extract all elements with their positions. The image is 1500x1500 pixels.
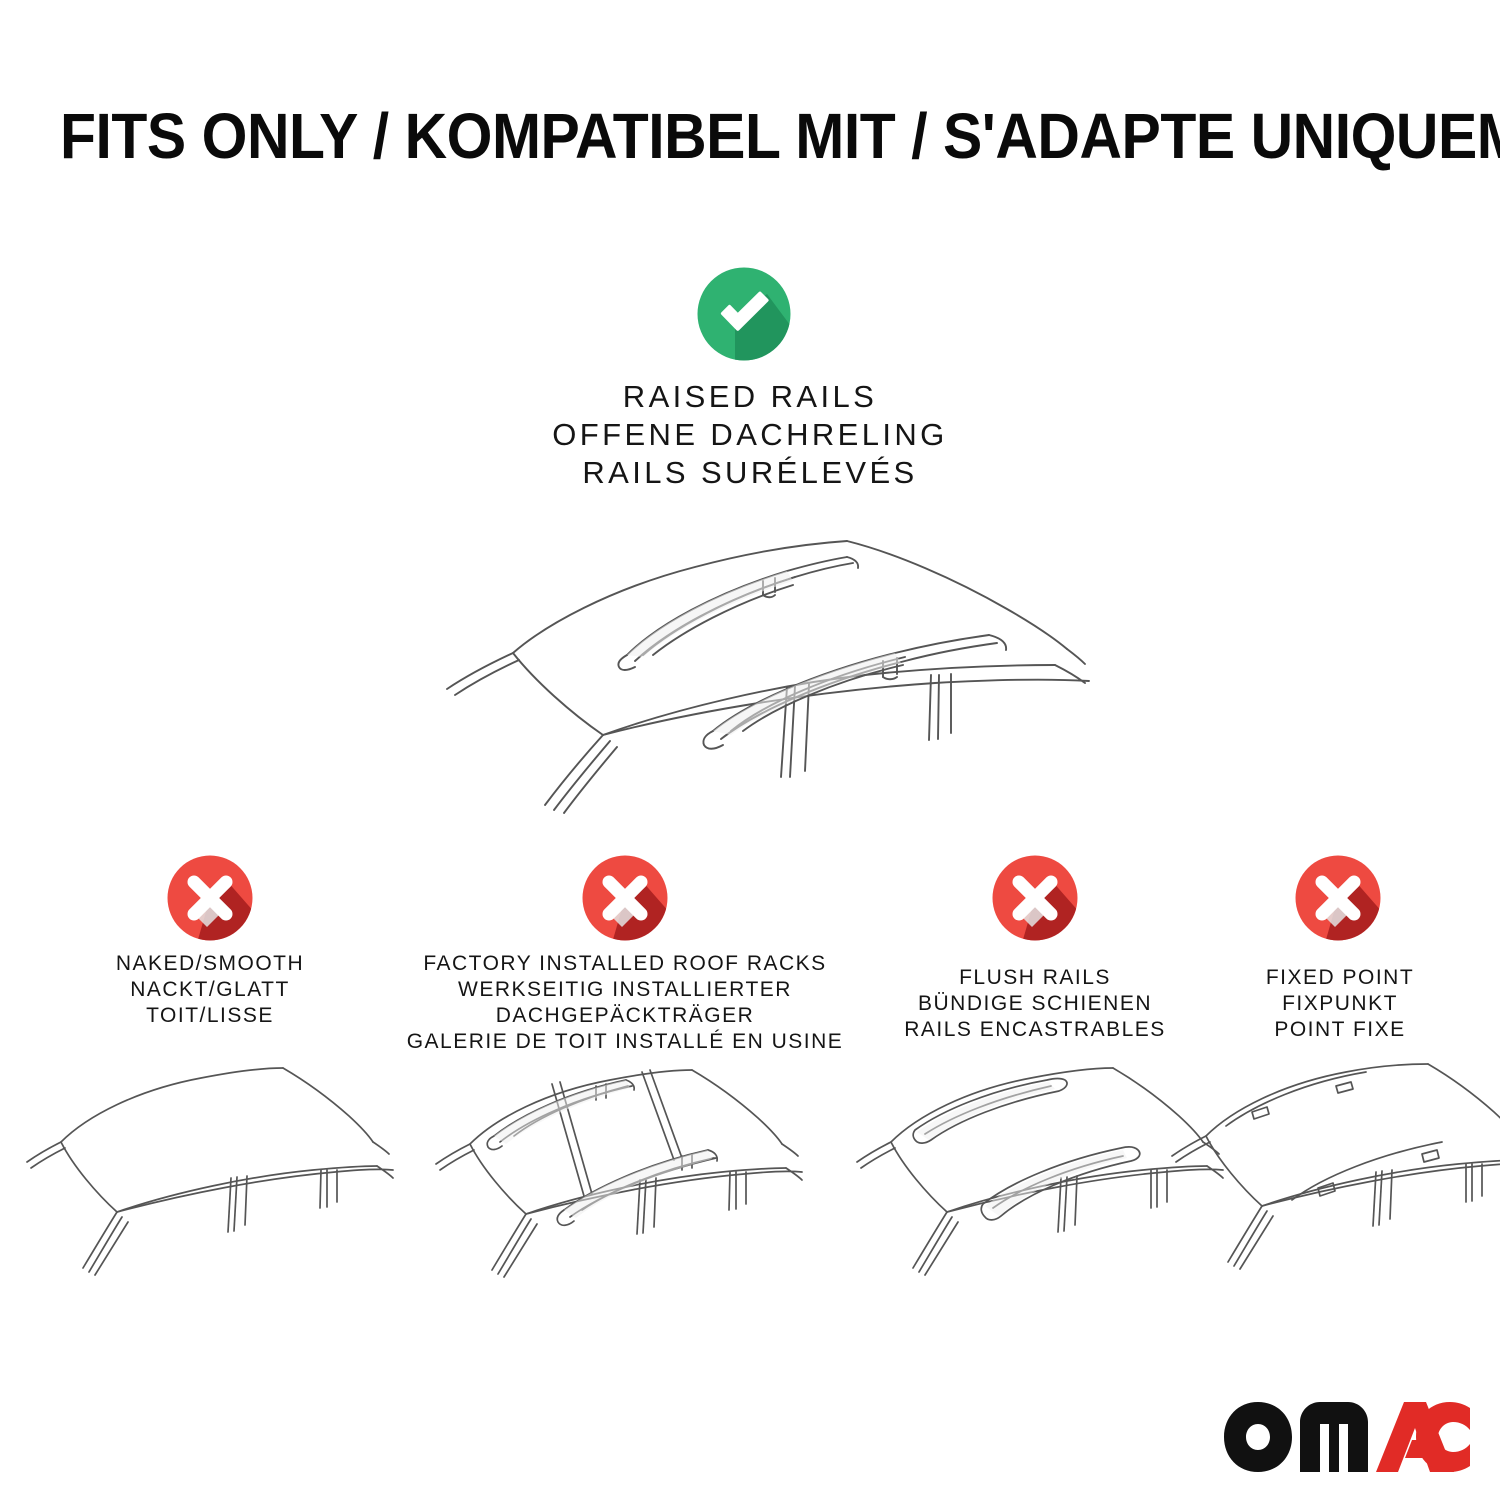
label-line-1: FLUSH RAILS — [845, 965, 1225, 991]
compatible-label-line-2: OFFENE DACHRELING — [250, 416, 1250, 454]
label-line-2: NACKT/GLATT — [20, 977, 400, 1003]
car-roof-fixed-point-illustration — [1170, 1060, 1500, 1320]
label-line-1: FIXED POINT — [1180, 965, 1500, 991]
compatible-label-line-3: RAILS SURÉLEVÉS — [250, 454, 1250, 492]
label-line-2: BÜNDIGE SCHIENEN — [845, 991, 1225, 1017]
green-check-icon — [697, 267, 791, 361]
label-line-2: WERKSEITIG INSTALLIERTER — [395, 977, 855, 1003]
incompatible-label-factory-roof-racks: FACTORY INSTALLED ROOF RACKS WERKSEITIG … — [395, 951, 855, 1055]
car-roof-naked-smooth-illustration — [25, 1060, 395, 1320]
omac-logo: OMAC — [1222, 1398, 1472, 1476]
compatible-label: RAISED RAILS OFFENE DACHRELING RAILS SUR… — [250, 378, 1250, 492]
red-x-icon — [167, 855, 253, 941]
page-title: FITS ONLY / KOMPATIBEL MIT / S'ADAPTE UN… — [60, 104, 1440, 168]
label-line-1: FACTORY INSTALLED ROOF RACKS — [395, 951, 855, 977]
label-line-3: TOIT/LISSE — [20, 1003, 400, 1029]
label-line-2: FIXPUNKT — [1180, 991, 1500, 1017]
fitment-infographic: FITS ONLY / KOMPATIBEL MIT / S'ADAPTE UN… — [0, 0, 1500, 1500]
label-line-1: NAKED/SMOOTH — [20, 951, 400, 977]
red-x-icon — [1295, 855, 1381, 941]
logo-letter-o — [1224, 1402, 1292, 1472]
incompatible-label-fixed-point: FIXED POINT FIXPUNKT POINT FIXE — [1180, 965, 1500, 1043]
incompatible-label-flush-rails: FLUSH RAILS BÜNDIGE SCHIENEN RAILS ENCAS… — [845, 965, 1225, 1043]
red-x-icon — [582, 855, 668, 941]
red-x-icon — [992, 855, 1078, 941]
label-line-3: POINT FIXE — [1180, 1017, 1500, 1043]
incompatible-label-naked-smooth: NAKED/SMOOTH NACKT/GLATT TOIT/LISSE — [20, 951, 400, 1029]
logo-letter-m — [1300, 1402, 1368, 1472]
label-line-3: RAILS ENCASTRABLES — [845, 1017, 1225, 1043]
label-line-4: GALERIE DE TOIT INSTALLÉ EN USINE — [395, 1029, 855, 1055]
label-line-3: DACHGEPÄCKTRÄGER — [395, 1003, 855, 1029]
compatible-label-line-1: RAISED RAILS — [250, 378, 1250, 416]
car-roof-raised-rails-illustration — [395, 505, 1105, 835]
car-roof-factory-roof-racks-illustration — [430, 1060, 810, 1320]
